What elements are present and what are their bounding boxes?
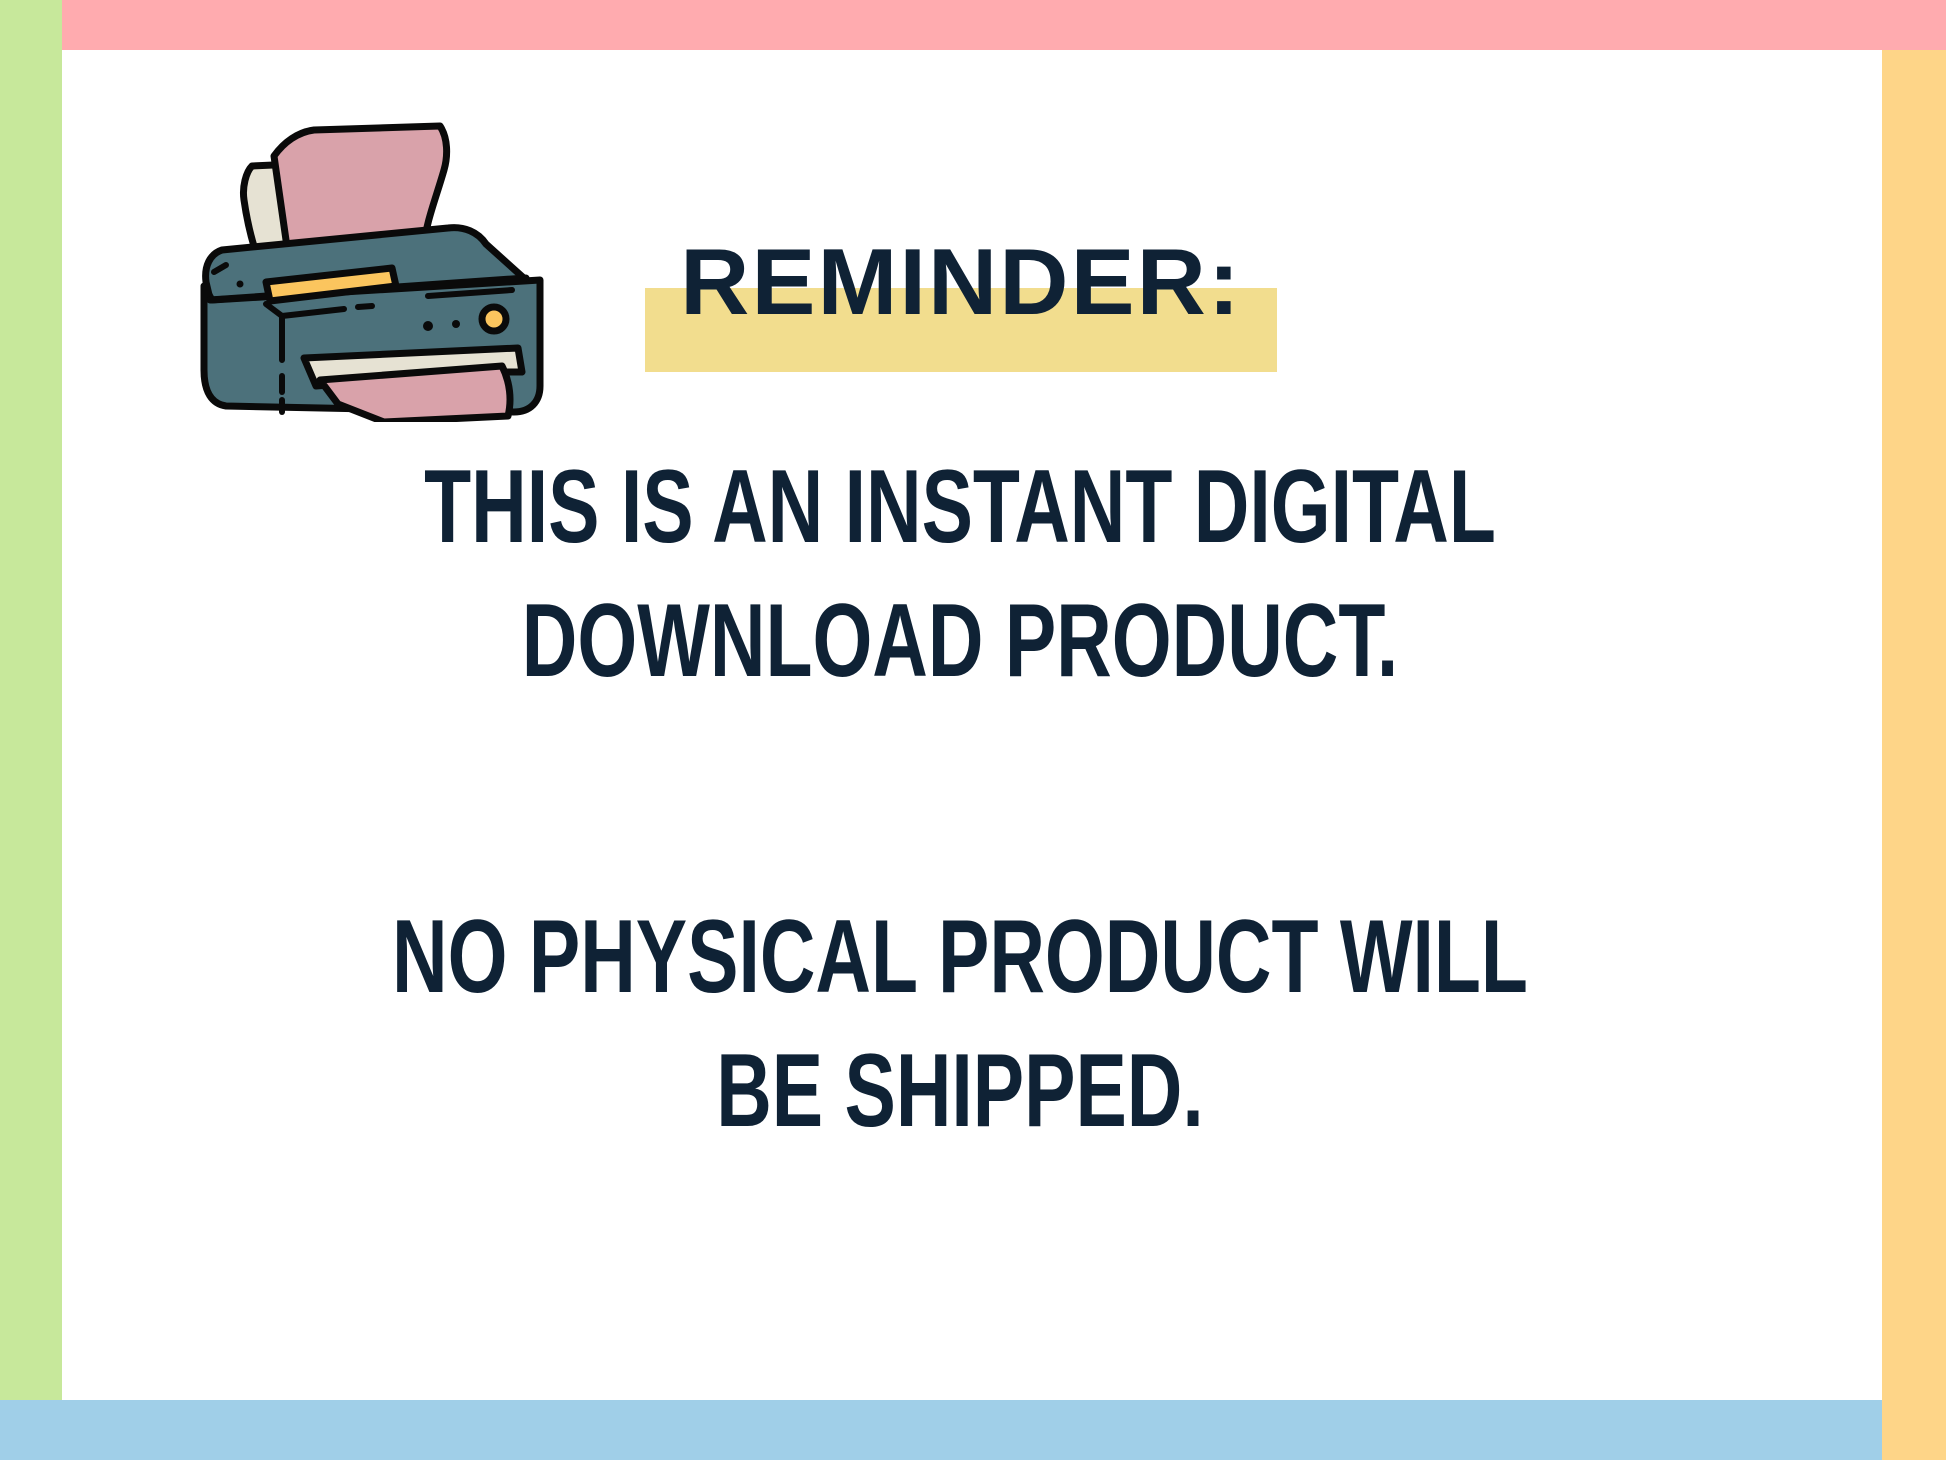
body-line-2: DOWNLOAD PRODUCT.: [361, 574, 1560, 708]
border-band-bottom: [0, 1400, 1882, 1460]
body-line-4: BE SHIPPED.: [361, 1024, 1560, 1158]
body-copy-block: THIS IS AN INSTANT DIGITAL DOWNLOAD PROD…: [150, 440, 1770, 1158]
indicator-dot-2: [423, 321, 433, 331]
seam-line-dash-1: [358, 306, 372, 307]
border-band-right: [1882, 50, 1946, 1460]
power-button-yellow: [482, 307, 506, 331]
printer-illustration: [196, 104, 596, 422]
border-band-top: [62, 0, 1946, 50]
body-line-1: THIS IS AN INSTANT DIGITAL: [361, 440, 1560, 574]
indicator-dot-3: [452, 320, 460, 328]
output-paper-pink: [320, 366, 510, 422]
indicator-dot-1: [237, 281, 244, 288]
body-line-3: NO PHYSICAL PRODUCT WILL: [361, 890, 1560, 1024]
poster-canvas: REMINDER: THIS IS AN INSTANT DIGITAL DOW…: [0, 0, 1946, 1460]
border-band-left: [0, 0, 62, 1400]
page-title: REMINDER:: [639, 228, 1284, 336]
headline-group: REMINDER:: [645, 228, 1285, 378]
body-paragraph-spacer: [150, 708, 1770, 890]
